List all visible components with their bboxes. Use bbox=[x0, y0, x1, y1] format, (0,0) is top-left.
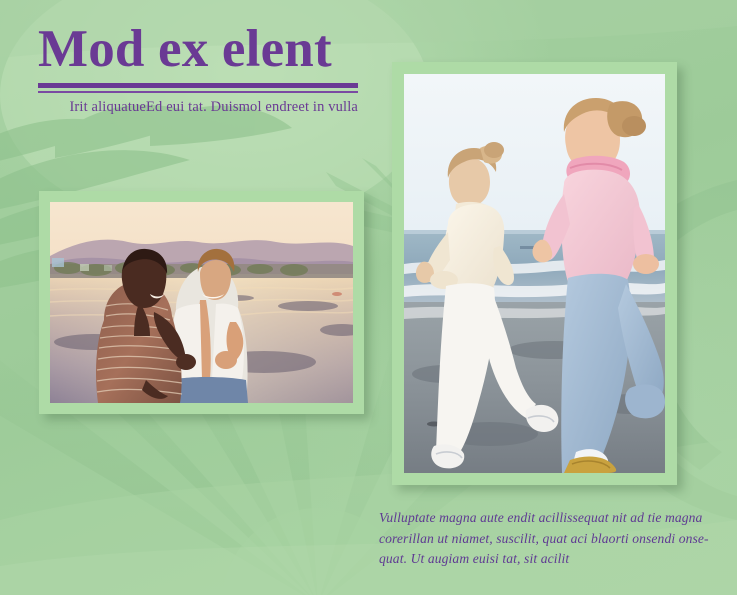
headline-block: Mod ex elent Irit aliquatueEd eui tat. D… bbox=[38, 22, 368, 116]
photo-right-art bbox=[404, 74, 665, 473]
photo-right bbox=[404, 74, 665, 473]
page-canvas: Mod ex elent Irit aliquatueEd eui tat. D… bbox=[0, 0, 737, 595]
photo-frame-right bbox=[392, 62, 677, 485]
title-rule-thick bbox=[38, 83, 358, 88]
page-title: Mod ex elent bbox=[38, 22, 368, 77]
caption-line: corerillan ut niamet, suscilit, quat aci… bbox=[379, 529, 701, 550]
page-subtitle: Irit aliquatueEd eui tat. Duismol endree… bbox=[38, 99, 358, 116]
photo-left-art bbox=[50, 202, 353, 403]
photo-frame-left bbox=[39, 191, 364, 414]
caption-line: quat. Ut augiam euisi tat, sit acilit bbox=[379, 549, 701, 570]
photo-caption: Vulluptate magna aute endit acillissequa… bbox=[379, 508, 701, 570]
title-rule-thin bbox=[38, 91, 358, 93]
photo-left bbox=[50, 202, 353, 403]
caption-line: Vulluptate magna aute endit acillissequa… bbox=[379, 508, 701, 529]
